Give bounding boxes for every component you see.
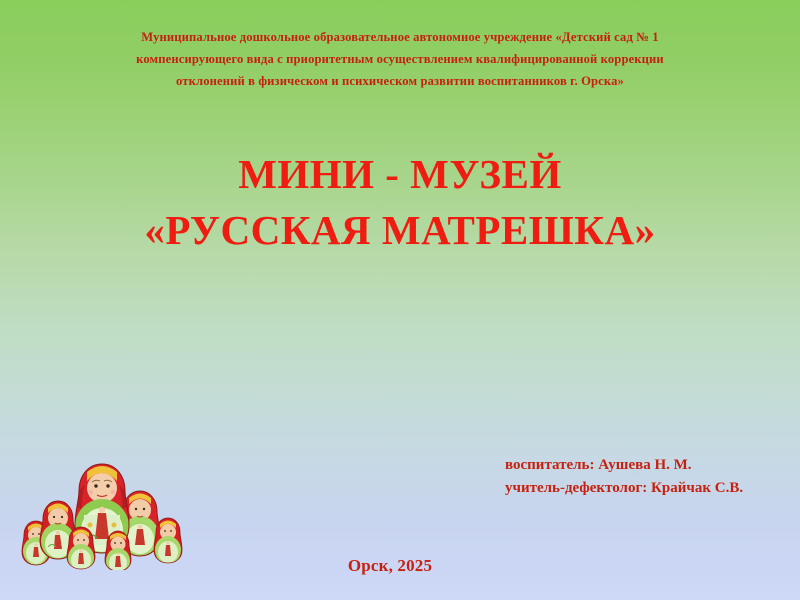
matryoshka-dolls-icon [18, 455, 186, 570]
footer-city-year: Орск, 2025 [348, 556, 432, 576]
credit-line-defectologist: учитель-дефектолог: Крайчак С.В. [505, 477, 743, 500]
page-title: МИНИ - МУЗЕЙ «РУССКАЯ МАТРЕШКА» [0, 146, 800, 258]
footer: Орск, 2025 [0, 556, 800, 576]
institution-header-line-2: компенсирующего вида с приоритетным осущ… [70, 48, 730, 70]
institution-header-line-1: Муниципальное дошкольное образовательное… [70, 26, 730, 48]
matryoshka-dolls-image [18, 455, 186, 570]
institution-header-line-3: отклонений в физическом и психическом ра… [70, 70, 730, 92]
institution-header: Муниципальное дошкольное образовательное… [70, 26, 730, 92]
credit-line-teacher: воспитатель: Аушева Н. М. [505, 454, 743, 477]
authors-credits: воспитатель: Аушева Н. М. учитель-дефект… [505, 454, 743, 500]
page-title-line-2: «РУССКАЯ МАТРЕШКА» [0, 202, 800, 258]
page-title-line-1: МИНИ - МУЗЕЙ [0, 146, 800, 202]
title-slide: Муниципальное дошкольное образовательное… [0, 0, 800, 600]
